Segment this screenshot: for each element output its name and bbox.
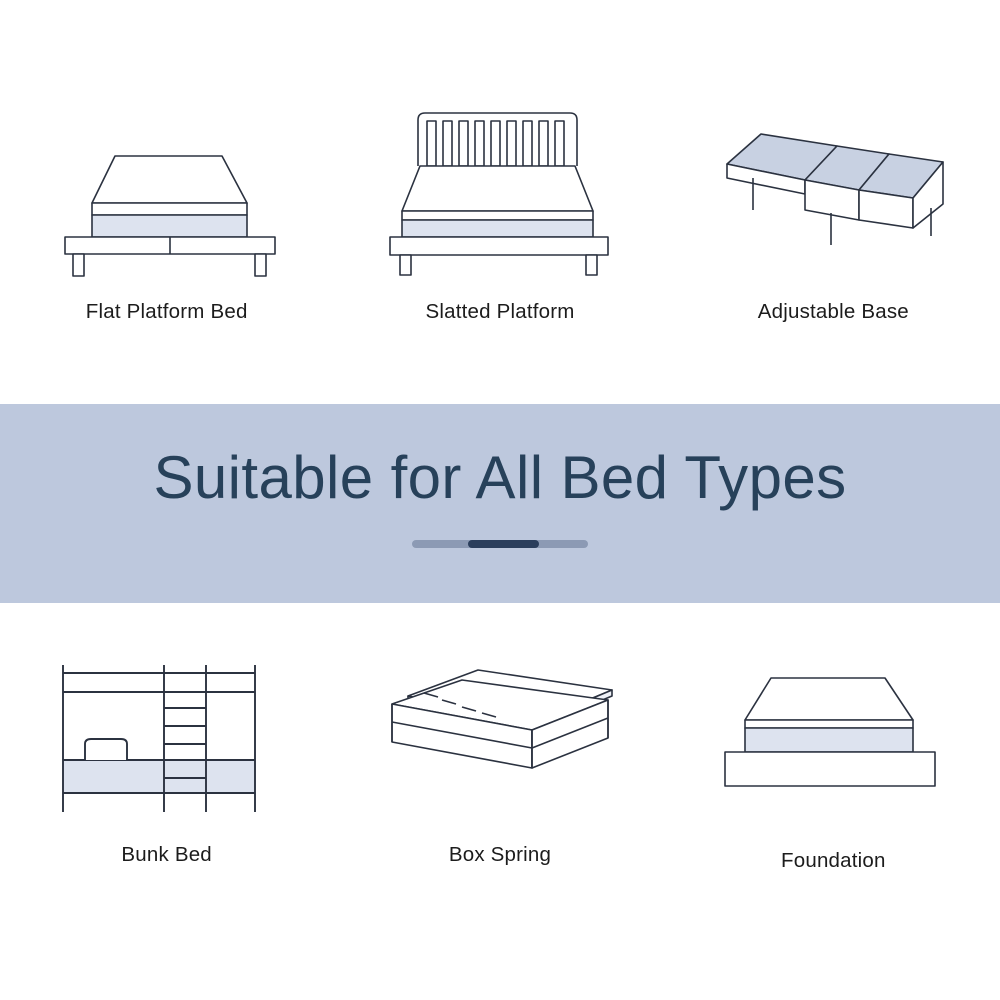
bed-type-label-box-spring: Box Spring bbox=[449, 843, 551, 867]
bed-type-card-bunk-bed[interactable]: Bunk Bed bbox=[0, 660, 333, 873]
banner-title: Suitable for All Bed Types bbox=[153, 448, 846, 508]
bunk-bed-illustration bbox=[47, 660, 287, 825]
foundation-illustration bbox=[713, 660, 953, 825]
bed-type-label-bunk-bed: Bunk Bed bbox=[121, 843, 212, 867]
banner-divider-core bbox=[468, 540, 538, 548]
bunk-bed-art-wrap bbox=[47, 660, 287, 825]
bed-type-label-foundation: Foundation bbox=[781, 849, 886, 873]
bed-type-card-flat-platform-bed[interactable]: Flat Platform Bed bbox=[0, 108, 333, 324]
bed-type-row-top: Flat Platform Bed bbox=[0, 108, 1000, 324]
bed-type-label-slatted-platform: Slatted Platform bbox=[425, 300, 574, 324]
flat-platform-bed-art-wrap bbox=[47, 108, 287, 278]
box-spring-art-wrap bbox=[380, 660, 620, 825]
bed-type-card-box-spring[interactable]: Box Spring bbox=[333, 660, 666, 873]
bed-type-card-adjustable-base[interactable]: Adjustable Base bbox=[667, 108, 1000, 324]
adjustable-base-art-wrap bbox=[713, 108, 953, 278]
slatted-platform-art-wrap bbox=[380, 108, 620, 278]
bed-type-card-foundation[interactable]: Foundation bbox=[667, 660, 1000, 873]
foundation-art-wrap bbox=[713, 660, 953, 825]
bed-type-label-flat-platform-bed: Flat Platform Bed bbox=[86, 300, 248, 324]
flat-platform-bed-illustration bbox=[47, 108, 287, 278]
headboard-slats bbox=[427, 121, 564, 166]
bed-type-row-bottom: Bunk Bed bbox=[0, 660, 1000, 873]
bed-type-card-slatted-platform[interactable]: Slatted Platform bbox=[333, 108, 666, 324]
box-spring-illustration bbox=[380, 660, 620, 825]
bed-type-label-adjustable-base: Adjustable Base bbox=[758, 300, 909, 324]
slatted-platform-illustration bbox=[380, 108, 620, 278]
banner-divider bbox=[412, 540, 588, 548]
banner: Suitable for All Bed Types bbox=[0, 404, 1000, 603]
adjustable-base-illustration bbox=[713, 108, 953, 278]
